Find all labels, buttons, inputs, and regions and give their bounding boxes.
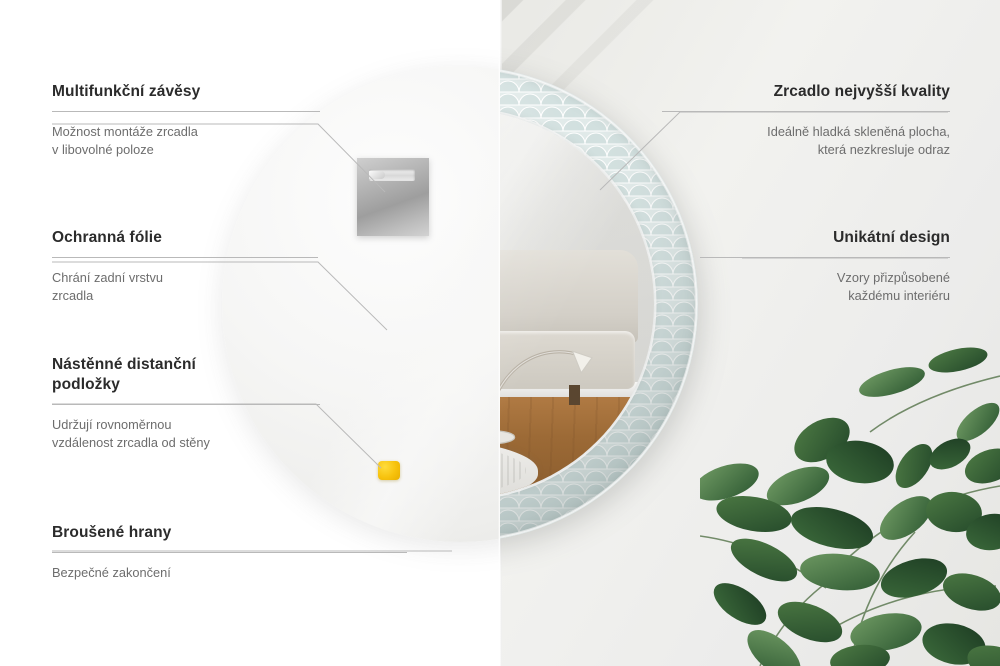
callout-body: Ideálně hladká skleněná plocha, která ne… [662,123,950,160]
callout-title: Unikátní design [700,228,950,248]
callout-rule [52,257,318,258]
callout-body: Bezpečné zakončení [52,564,407,583]
callout-zrcadlo-nejvyssi-kvality: Zrcadlo nejvyšší kvality Ideálně hladká … [662,82,950,160]
callout-title: Nástěnné distanční podložky [52,355,320,395]
hanger-slot-icon [369,169,415,181]
reflected-room-scene [500,110,654,498]
callout-brousene-hrany: Broušené hrany Bezpečné zakončení [52,523,407,582]
callout-rule [52,404,320,405]
callout-rule [52,111,320,112]
callout-title: Multifunkční závěsy [52,82,320,102]
callout-body: Udržují rovnoměrnou vzdálenost zrcadla o… [52,416,320,453]
spacer-pad-icon [378,461,400,480]
callout-title: Broušené hrany [52,523,407,543]
callout-body: Možnost montáže zrcadla v libovolné polo… [52,123,320,160]
hanger-bracket-icon [357,158,429,236]
callout-rule [662,111,950,112]
callout-rule [700,257,950,258]
callout-unikatni-design: Unikátní design Vzory přizpůsobené každé… [700,228,950,306]
callout-ochranna-folie: Ochranná fólie Chrání zadní vrstvu zrcad… [52,228,318,306]
callout-title: Zrcadlo nejvyšší kvality [662,82,950,102]
callout-nastenne-distancni-podlozky: Nástěnné distanční podložky Udržují rovn… [52,355,320,453]
callout-title: Ochranná fólie [52,228,318,248]
callout-rule [52,552,407,553]
callout-multifunkcni-zavesy: Multifunkční závěsy Možnost montáže zrca… [52,82,320,160]
callout-body: Chrání zadní vrstvu zrcadla [52,269,318,306]
reflected-arc-floor-lamp [500,304,600,444]
infographic-canvas: Multifunkční závěsy Možnost montáže zrca… [0,0,1000,666]
mirror-glass-surface [500,110,654,498]
callout-body: Vzory přizpůsobené každému interiéru [700,269,950,306]
